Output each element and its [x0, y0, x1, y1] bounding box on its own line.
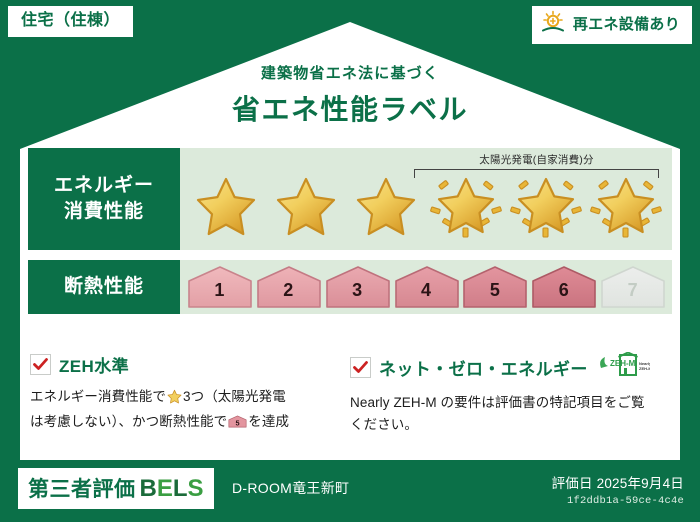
net-zero-title: ネット・ゼロ・エネルギー	[379, 355, 588, 380]
zeh-standard-heading: ZEH水準	[30, 352, 334, 377]
zeh-body-part3: を達成	[248, 414, 289, 429]
insulation-level-2: 2	[255, 265, 322, 309]
bels-letter-b: B	[140, 475, 157, 502]
zeh-body-star-count: 3つ（太陽光発電	[183, 389, 286, 404]
performance-rows: エネルギー 消費性能 太陽光発電(自家消費)分	[28, 148, 672, 324]
energy-performance-label-card: 住宅（住棟） 再エネ設備あり 建築物省エネ法に基づく 省エネ性能ラベル	[0, 0, 700, 522]
insulation-level-7: 7	[599, 265, 666, 309]
insulation-level-3-number: 3	[352, 273, 362, 301]
title-block: 建築物省エネ法に基づく 省エネ性能ラベル	[0, 62, 700, 128]
inline-star-icon	[167, 389, 182, 411]
criteria-notes: ZEH水準 エネルギー消費性能で3つ（太陽光発電は考慮しない）、かつ断熱性能で5…	[30, 352, 670, 436]
page-title: 省エネ性能ラベル	[0, 88, 700, 128]
zeh-body-part2: は考慮しない）、かつ断熱性能で	[30, 414, 227, 429]
insulation-level-6: 6	[530, 265, 597, 309]
building-name: D-ROOM竜王新町	[232, 478, 349, 498]
energy-star-rating	[180, 168, 672, 244]
third-party-eval-label: 第三者評価	[28, 473, 136, 503]
bels-letter-s: S	[188, 475, 204, 502]
net-zero-body: Nearly ZEH-M の要件は評価書の特記項目をご覧ください。	[350, 392, 654, 436]
energy-performance-row: エネルギー 消費性能 太陽光発電(自家消費)分	[28, 148, 672, 250]
bels-certification-plate: 第三者評価 BELS	[18, 468, 214, 509]
inline-insulation-house-icon: 5	[228, 414, 247, 436]
zeh-standard-body: エネルギー消費性能で3つ（太陽光発電は考慮しない）、かつ断熱性能で5を達成	[30, 386, 334, 436]
zeh-standard-note: ZEH水準 エネルギー消費性能で3つ（太陽光発電は考慮しない）、かつ断熱性能で5…	[30, 352, 350, 436]
energy-rating-track: 太陽光発電(自家消費)分	[180, 148, 672, 250]
star-5-sparkle	[506, 168, 586, 244]
insulation-level-1: 1	[186, 265, 253, 309]
evaluation-date: 評価日 2025年9月4日	[552, 472, 684, 492]
insulation-performance-row: 断熱性能	[28, 260, 672, 314]
insulation-level-1-number: 1	[214, 273, 224, 301]
star-2	[266, 168, 346, 244]
star-1	[186, 168, 266, 244]
insulation-level-4-number: 4	[421, 273, 431, 301]
bels-wordmark: BELS	[140, 475, 204, 503]
title-subtitle: 建築物省エネ法に基づく	[0, 62, 700, 83]
energy-label-line1: エネルギー	[54, 173, 154, 199]
insulation-level-2-number: 2	[283, 273, 293, 301]
star-3	[346, 168, 426, 244]
energy-performance-label: エネルギー 消費性能	[28, 148, 180, 250]
svg-text:ZEH-M: ZEH-M	[610, 359, 636, 368]
insulation-level-7-number: 7	[628, 273, 638, 301]
star-6-sparkle	[586, 168, 666, 244]
checkbox-checked-net-zero	[350, 357, 371, 378]
insulation-rating-track: 1 2 3	[180, 260, 672, 314]
svg-text:5: 5	[236, 418, 240, 427]
solar-sun-icon	[540, 10, 566, 39]
check-icon	[33, 357, 48, 372]
bels-letter-l: L	[173, 475, 188, 502]
checkbox-checked-zeh	[30, 354, 51, 375]
net-zero-heading: ネット・ゼロ・エネルギー ZEH-M Nearly ZEH-M	[350, 352, 654, 383]
insulation-level-5: 5	[461, 265, 528, 309]
svg-text:ZEH-M: ZEH-M	[639, 366, 650, 371]
zeh-m-logo-icon: ZEH-M Nearly ZEH-M	[596, 352, 650, 383]
renewable-badge-label: 再エネ設備あり	[573, 16, 680, 34]
insulation-level-5-number: 5	[490, 273, 500, 301]
evaluation-info: 評価日 2025年9月4日 1f2ddb1a-59ce-4c4e	[552, 472, 684, 507]
insulation-level-4: 4	[393, 265, 460, 309]
insulation-level-scale: 1 2 3	[180, 260, 672, 314]
solar-annotation-label: 太陽光発電(自家消費)分	[414, 152, 659, 167]
bels-letter-e: E	[157, 475, 173, 502]
insulation-performance-label: 断熱性能	[28, 260, 180, 314]
energy-label-line2: 消費性能	[64, 199, 144, 225]
renewable-energy-badge: 再エネ設備あり	[532, 6, 692, 44]
evaluation-id: 1f2ddb1a-59ce-4c4e	[552, 495, 684, 507]
zeh-body-part1: エネルギー消費性能で	[30, 389, 166, 404]
net-zero-energy-note: ネット・ゼロ・エネルギー ZEH-M Nearly ZEH-M Nearly Z…	[350, 352, 670, 436]
footer-bar: 第三者評価 BELS D-ROOM竜王新町 評価日 2025年9月4日 1f2d…	[0, 460, 700, 522]
insulation-level-6-number: 6	[559, 273, 569, 301]
check-icon	[353, 360, 368, 375]
star-4-sparkle	[426, 168, 506, 244]
zeh-standard-title: ZEH水準	[59, 352, 129, 377]
category-tag: 住宅（住棟）	[8, 6, 133, 37]
insulation-level-3: 3	[324, 265, 391, 309]
